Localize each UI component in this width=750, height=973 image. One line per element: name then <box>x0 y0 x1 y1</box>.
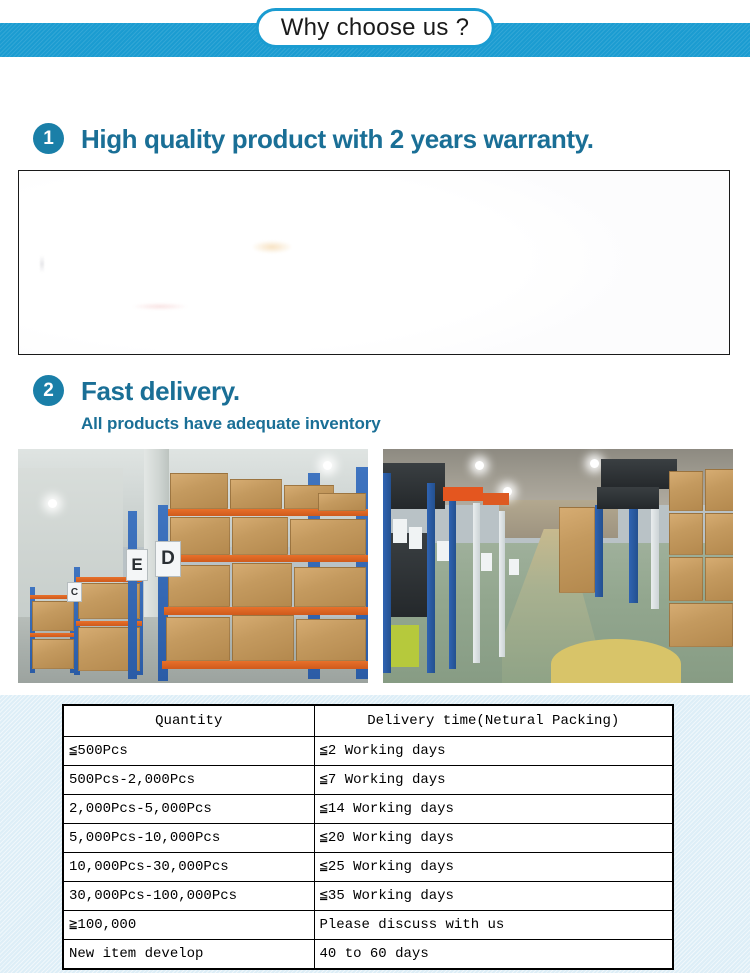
section-heading-1: 1 High quality product with 2 years warr… <box>33 123 594 154</box>
aisle-sign-d: D <box>155 541 181 577</box>
carton-stack <box>230 479 282 509</box>
table-row: 30,000Pcs-100,000Pcs ≦35 Working days <box>63 882 673 911</box>
rack-upright <box>427 483 435 673</box>
cell-quantity: 10,000Pcs-30,000Pcs <box>63 853 314 882</box>
section-heading-2: 2 Fast delivery. <box>33 375 240 406</box>
carton-stack <box>669 603 733 647</box>
rack-upright <box>128 511 137 679</box>
rack-upright <box>383 473 391 673</box>
shelf-label <box>393 519 407 543</box>
table-row: New item develop 40 to 60 days <box>63 940 673 970</box>
cell-delivery-time: ≦2 Working days <box>314 737 673 766</box>
carton-stack <box>232 517 288 555</box>
ceiling-lamp <box>475 461 484 470</box>
table-row: ≦500Pcs ≦2 Working days <box>63 737 673 766</box>
carton-stack <box>318 493 366 511</box>
carton-stack <box>669 513 703 555</box>
aisle-sign-c: C <box>67 582 82 602</box>
rack-upright <box>651 497 659 609</box>
cell-quantity: 2,000Pcs-5,000Pcs <box>63 795 314 824</box>
carton-stack <box>294 567 366 607</box>
orange-bin <box>483 493 509 505</box>
carton-stack <box>232 615 294 661</box>
carton-stack <box>166 617 230 661</box>
shelf-contents <box>597 487 659 509</box>
table-row: 2,000Pcs-5,000Pcs ≦14 Working days <box>63 795 673 824</box>
table-row: ≧100,000 Please discuss with us <box>63 911 673 940</box>
green-crate <box>391 625 419 667</box>
orange-bin <box>443 487 483 501</box>
delivery-table-body: Quantity Delivery time(Netural Packing) … <box>63 705 673 969</box>
cell-delivery-time: 40 to 60 days <box>314 940 673 970</box>
section-title-1: High quality product with 2 years warran… <box>81 126 594 152</box>
carton-stack <box>669 471 703 511</box>
cell-delivery-time: ≦14 Working days <box>314 795 673 824</box>
carton-stack <box>290 519 366 555</box>
ceiling-lamp <box>590 459 599 468</box>
cell-quantity: 30,000Pcs-100,000Pcs <box>63 882 314 911</box>
section-number-badge-1: 1 <box>33 123 64 154</box>
shelf-contents <box>601 459 677 489</box>
cell-quantity: ≧100,000 <box>63 911 314 940</box>
carton-stack <box>170 473 228 509</box>
cell-quantity: 500Pcs-2,000Pcs <box>63 766 314 795</box>
warehouse-photo-right <box>383 449 733 683</box>
page-title: Why choose us ? <box>281 16 470 40</box>
table-header-row: Quantity Delivery time(Netural Packing) <box>63 705 673 737</box>
cell-delivery-time: ≦7 Working days <box>314 766 673 795</box>
header-title-pill: Why choose us ? <box>256 8 495 48</box>
product-image-frame <box>18 170 730 355</box>
cell-delivery-time: ≦35 Working days <box>314 882 673 911</box>
rack-beam <box>162 661 368 669</box>
carton-stack <box>705 513 733 555</box>
shelf-label <box>509 559 519 575</box>
rack-upright <box>473 503 480 663</box>
cell-delivery-time: Please discuss with us <box>314 911 673 940</box>
delivery-time-table: Quantity Delivery time(Netural Packing) … <box>62 704 674 970</box>
rack-upright <box>595 505 603 597</box>
product-image-highlight <box>253 241 291 253</box>
carton-stack <box>669 557 703 601</box>
floor-marking <box>551 639 681 683</box>
carton-stack <box>296 619 366 661</box>
carton-stack <box>705 469 733 511</box>
warehouse-photo-left: E D C <box>18 449 368 683</box>
cell-quantity: 5,000Pcs-10,000Pcs <box>63 824 314 853</box>
carton-stack <box>705 557 733 601</box>
section-subtitle-2: All products have adequate inventory <box>81 414 381 434</box>
rack-upright <box>449 493 456 669</box>
carton-stack <box>32 639 74 669</box>
shelf-contents <box>383 463 445 509</box>
product-image-highlight-tertiary <box>40 255 44 273</box>
ceiling-lamp <box>48 499 57 508</box>
rack-beam <box>30 633 76 637</box>
section-number-badge-2: 2 <box>33 375 64 406</box>
shelf-label <box>437 541 449 561</box>
shelf-label <box>409 527 422 549</box>
rack-beam <box>164 607 368 615</box>
cell-delivery-time: ≦25 Working days <box>314 853 673 882</box>
carton-stack <box>32 601 74 631</box>
table-row: 5,000Pcs-10,000Pcs ≦20 Working days <box>63 824 673 853</box>
table-row: 500Pcs-2,000Pcs ≦7 Working days <box>63 766 673 795</box>
rack-upright <box>629 499 638 603</box>
product-image <box>19 171 729 354</box>
cell-quantity: New item develop <box>63 940 314 970</box>
cell-delivery-time: ≦20 Working days <box>314 824 673 853</box>
cell-quantity: ≦500Pcs <box>63 737 314 766</box>
column-header-quantity: Quantity <box>63 705 314 737</box>
aisle-sign-e: E <box>126 549 148 581</box>
column-header-delivery-time: Delivery time(Netural Packing) <box>314 705 673 737</box>
ceiling-lamp <box>323 461 332 470</box>
rack-upright <box>499 511 505 657</box>
product-image-highlight-secondary <box>133 303 187 310</box>
page-header: Why choose us ? <box>0 0 750 66</box>
section-title-2: Fast delivery. <box>81 378 240 404</box>
carton-stack <box>559 507 595 593</box>
rack-beam <box>166 555 368 562</box>
shelf-label <box>481 553 492 571</box>
carton-stack <box>232 563 292 607</box>
table-row: 10,000Pcs-30,000Pcs ≦25 Working days <box>63 853 673 882</box>
